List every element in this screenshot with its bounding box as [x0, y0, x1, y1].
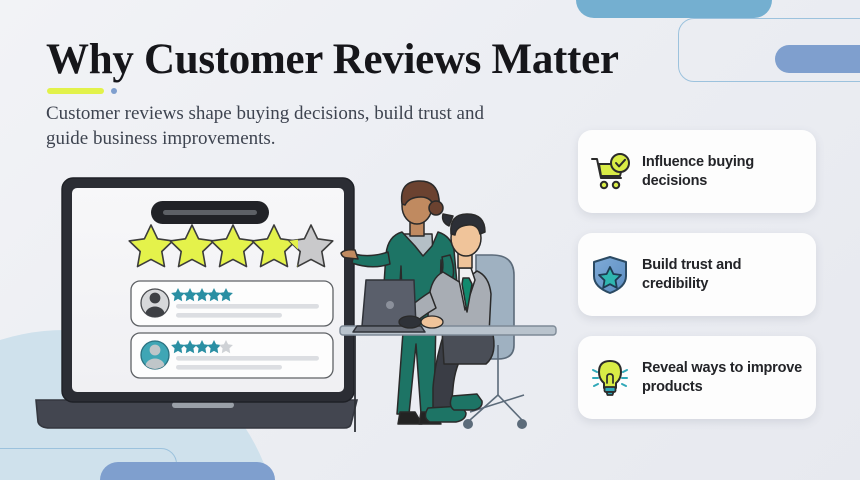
outline-rounded-rect-top-decoration: [678, 18, 860, 82]
page-title: Why Customer Reviews Matter: [46, 36, 619, 84]
shopping-cart-check-icon: [578, 152, 642, 192]
review-text-line: [176, 365, 282, 370]
screen-search-bar-inner: [163, 210, 257, 215]
accent-bar: [47, 88, 104, 94]
slide-canvas: Why Customer Reviews Matter Customer rev…: [0, 0, 860, 480]
blue-rounded-rect-right-decoration: [775, 45, 860, 73]
page-subtitle: Customer reviews shape buying decisions,…: [46, 101, 506, 151]
feature-card-reveal-ways-to-improve-products[interactable]: Reveal ways to improve products: [578, 336, 816, 419]
lightbulb-idea-icon: [578, 357, 642, 399]
review-text-line: [176, 313, 282, 318]
accent-dot: [111, 88, 117, 94]
shield-star-icon: [578, 254, 642, 296]
feature-card-label: Influence buying decisions: [642, 153, 816, 191]
review-row-2: [131, 333, 333, 378]
review-row-1: [131, 281, 333, 326]
feature-card-label: Build trust and credibility: [642, 256, 816, 294]
review-text-line: [176, 304, 319, 309]
feature-card-influence-buying-decisions[interactable]: Influence buying decisions: [578, 130, 816, 213]
title-accent: [47, 88, 117, 94]
blue-rounded-rect-top-decoration: [576, 0, 772, 18]
feature-card-label: Reveal ways to improve products: [642, 359, 816, 397]
laptop-base-notch: [172, 402, 234, 408]
feature-card-build-trust-and-credibility[interactable]: Build trust and credibility: [578, 233, 816, 316]
feature-card-list: Influence buying decisions Build trust a…: [578, 130, 816, 439]
review-text-line: [176, 356, 319, 361]
